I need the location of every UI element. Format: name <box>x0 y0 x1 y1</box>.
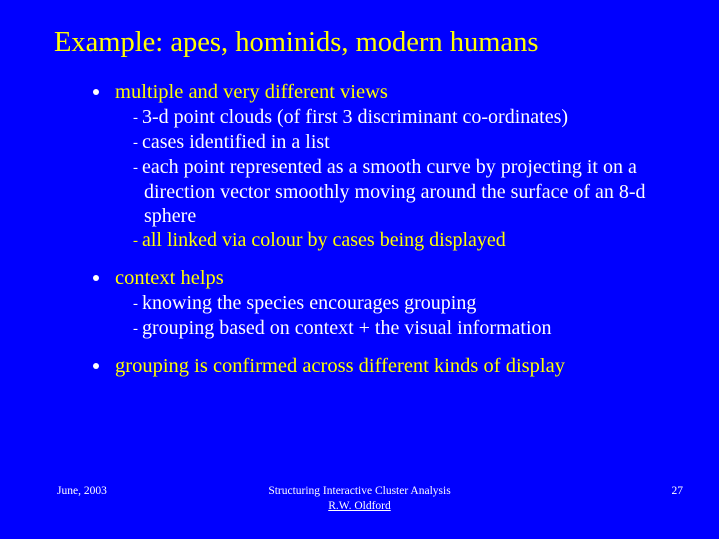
slide-canvas: Example: apes, hominids, modern humans m… <box>0 0 719 539</box>
sub-bullet-wrapped: -each point represented as a smooth curv… <box>133 155 698 228</box>
bullet-group: grouping is confirmed across different k… <box>88 354 698 379</box>
dash-marker-icon: - <box>133 296 142 312</box>
sub-bullet-label: each point represented as a smooth curve… <box>142 156 646 227</box>
sub-bullet-label: knowing the species encourages grouping <box>142 292 476 314</box>
sub-bullet-item: -grouping based on context + the visual … <box>88 316 698 341</box>
sub-bullet-item: -all linked via colour by cases being di… <box>88 228 698 253</box>
bullet-label: context helps <box>115 267 224 289</box>
bullet-dot-icon <box>93 363 99 369</box>
bullet-label: grouping is confirmed across different k… <box>115 355 565 377</box>
footer-presentation-title: Structuring Interactive Cluster Analysis <box>0 484 719 499</box>
bullet-item-primary: multiple and very different views <box>88 80 698 105</box>
bullet-label: multiple and very different views <box>115 81 388 103</box>
footer-page-number: 27 <box>672 484 684 499</box>
sub-bullet-item: -cases identified in a list <box>88 130 698 155</box>
sub-bullet-item: -knowing the species encourages grouping <box>88 291 698 316</box>
author-link[interactable]: R.W. Oldford <box>328 500 391 512</box>
page-title: Example: apes, hominids, modern humans <box>54 26 674 60</box>
bullet-item-primary: grouping is confirmed across different k… <box>88 354 698 379</box>
dash-marker-icon: - <box>133 110 142 126</box>
slide-footer: June, 2003 Structuring Interactive Clust… <box>0 483 719 539</box>
sub-bullet-label: cases identified in a list <box>142 131 330 153</box>
sub-bullet-label: 3-d point clouds (of first 3 discriminan… <box>142 106 568 128</box>
dash-marker-icon: - <box>133 160 142 176</box>
footer-author: R.W. Oldford <box>0 499 719 514</box>
dash-marker-icon: - <box>133 321 142 337</box>
dash-marker-icon: - <box>133 135 142 151</box>
bullet-dot-icon <box>93 275 99 281</box>
dash-marker-icon: - <box>133 233 142 249</box>
bullet-item-primary: context helps <box>88 266 698 291</box>
sub-bullet-label: grouping based on context + the visual i… <box>142 317 552 339</box>
sub-bullet-item: -3-d point clouds (of first 3 discrimina… <box>88 105 698 130</box>
sub-bullet-item: -each point represented as a smooth curv… <box>88 155 698 228</box>
slide-body: multiple and very different views -3-d p… <box>88 80 698 379</box>
sub-bullet-label: all linked via colour by cases being dis… <box>142 229 506 251</box>
bullet-group: multiple and very different views -3-d p… <box>88 80 698 253</box>
bullet-dot-icon <box>93 89 99 95</box>
bullet-group: context helps -knowing the species encou… <box>88 266 698 341</box>
